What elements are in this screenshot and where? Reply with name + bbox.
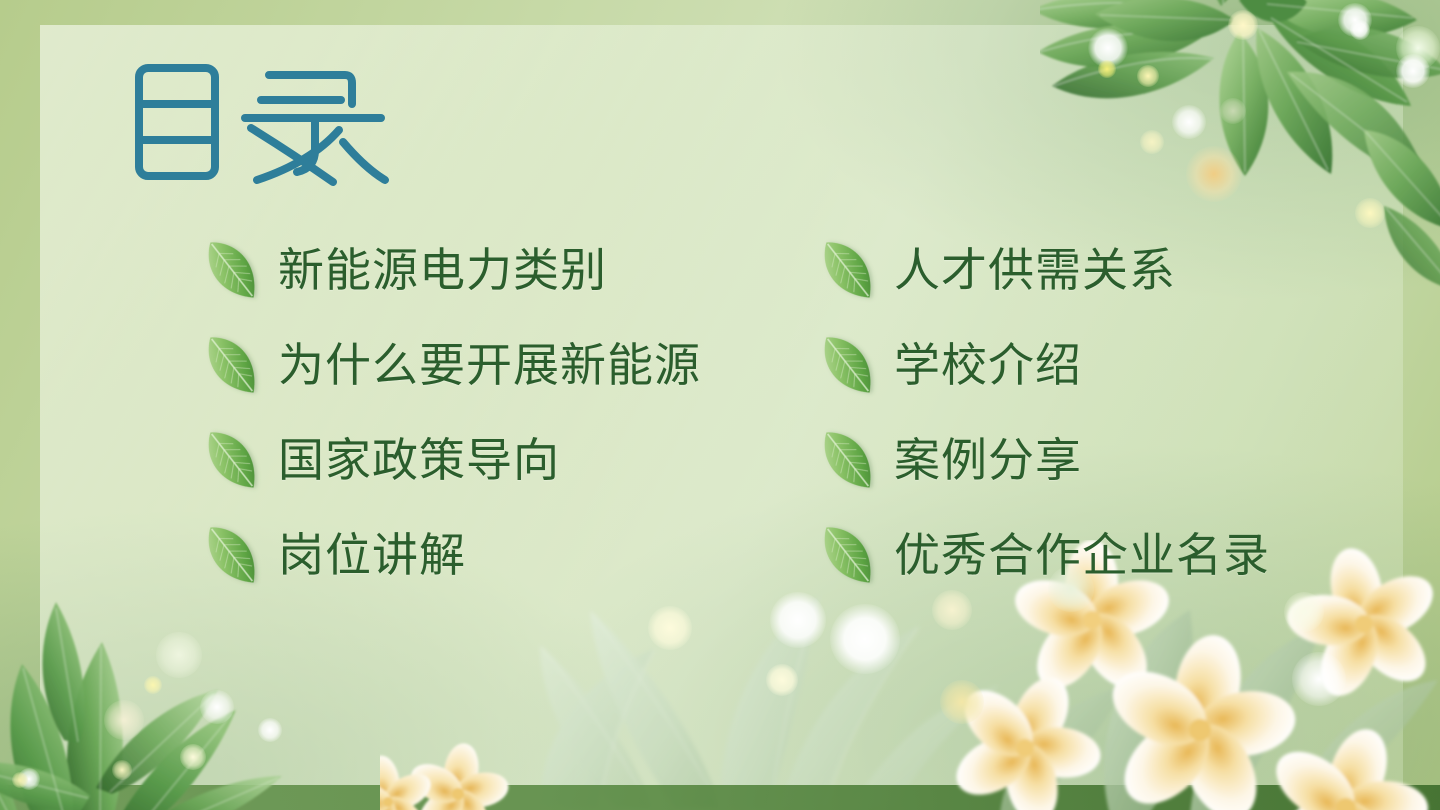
list-item[interactable]: 人才供需关系 [812,222,1270,317]
toc-item-label: 案例分享 [894,437,1082,483]
toc-item-label: 岗位讲解 [278,532,466,578]
leaf-bullet-icon [196,231,268,309]
leaf-bullet-icon [812,326,884,404]
toc-item-label: 为什么要开展新能源 [278,342,701,388]
leaf-bullet-icon [196,516,268,594]
list-item[interactable]: 新能源电力类别 [196,222,701,317]
toc-item-label: 人才供需关系 [894,247,1176,293]
leaf-bullet-icon [812,516,884,594]
list-item[interactable]: 岗位讲解 [196,507,701,602]
list-item[interactable]: 优秀合作企业名录 [812,507,1270,602]
leaf-bullet-icon [812,421,884,499]
leaf-bullet-icon [196,421,268,499]
toc-item-label: 新能源电力类别 [278,247,607,293]
toc-item-label: 国家政策导向 [278,437,560,483]
list-item[interactable]: 学校介绍 [812,317,1270,412]
toc-item-label: 学校介绍 [894,342,1082,388]
leaf-bullet-icon [196,326,268,404]
list-item[interactable]: 为什么要开展新能源 [196,317,701,412]
leaf-bullet-icon [812,231,884,309]
table-of-contents: 新能源电力类别 为什么要开展新能源 国家政策导向 岗位讲解 [0,0,1440,810]
list-item[interactable]: 国家政策导向 [196,412,701,507]
toc-item-label: 优秀合作企业名录 [894,532,1270,578]
list-item[interactable]: 案例分享 [812,412,1270,507]
presentation-slide: 目录 [0,0,1440,810]
toc-left-column: 新能源电力类别 为什么要开展新能源 国家政策导向 岗位讲解 [196,222,701,602]
toc-right-column: 人才供需关系 学校介绍 案例分享 优秀合作企业名录 [812,222,1270,602]
